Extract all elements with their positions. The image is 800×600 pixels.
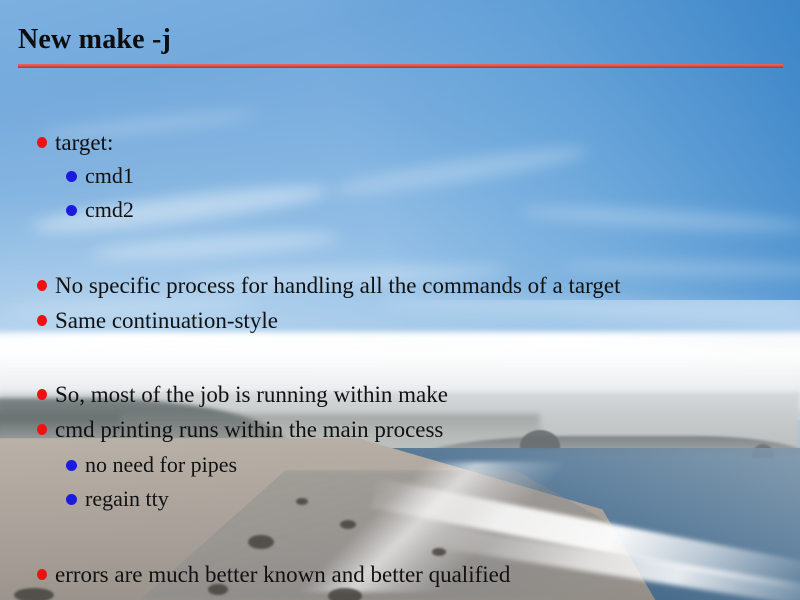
bullet-label: target: (55, 131, 113, 154)
bullet-item-level1: cmd printing runs within the main proces… (37, 416, 443, 442)
bullet-label: cmd2 (85, 199, 134, 221)
red-bullet-icon (37, 280, 47, 291)
bullet-item-level2: no need for pipes (66, 452, 237, 478)
bullet-label: So, most of the job is running within ma… (55, 383, 448, 406)
bullet-list: target:cmd1cmd2No specific process for h… (0, 0, 800, 600)
bullet-label: Same continuation-style (55, 309, 278, 332)
red-bullet-icon (37, 389, 47, 400)
bullet-item-level2: cmd2 (66, 197, 134, 223)
bullet-label: no need for pipes (85, 454, 237, 476)
blue-bullet-icon (66, 460, 77, 471)
bullet-item-level2: cmd1 (66, 163, 134, 189)
bullet-label: cmd printing runs within the main proces… (55, 418, 443, 441)
red-bullet-icon (37, 424, 47, 435)
red-bullet-icon (37, 315, 47, 326)
bullet-item-level1: errors are much better known and better … (37, 561, 510, 587)
blue-bullet-icon (66, 205, 77, 216)
presentation-slide: New make -j target:cmd1cmd2No specific p… (0, 0, 800, 600)
bullet-item-level1: No specific process for handling all the… (37, 272, 620, 298)
bullet-label: cmd1 (85, 165, 134, 187)
red-bullet-icon (37, 569, 47, 580)
bullet-item-level1: Same continuation-style (37, 307, 278, 333)
blue-bullet-icon (66, 171, 77, 182)
bullet-label: regain tty (85, 488, 169, 510)
red-bullet-icon (37, 137, 47, 148)
bullet-item-level2: regain tty (66, 486, 169, 512)
bullet-label: No specific process for handling all the… (55, 274, 620, 297)
bullet-item-level1: target: (37, 129, 113, 155)
blue-bullet-icon (66, 494, 77, 505)
bullet-item-level1: So, most of the job is running within ma… (37, 381, 448, 407)
bullet-label: errors are much better known and better … (55, 563, 510, 586)
